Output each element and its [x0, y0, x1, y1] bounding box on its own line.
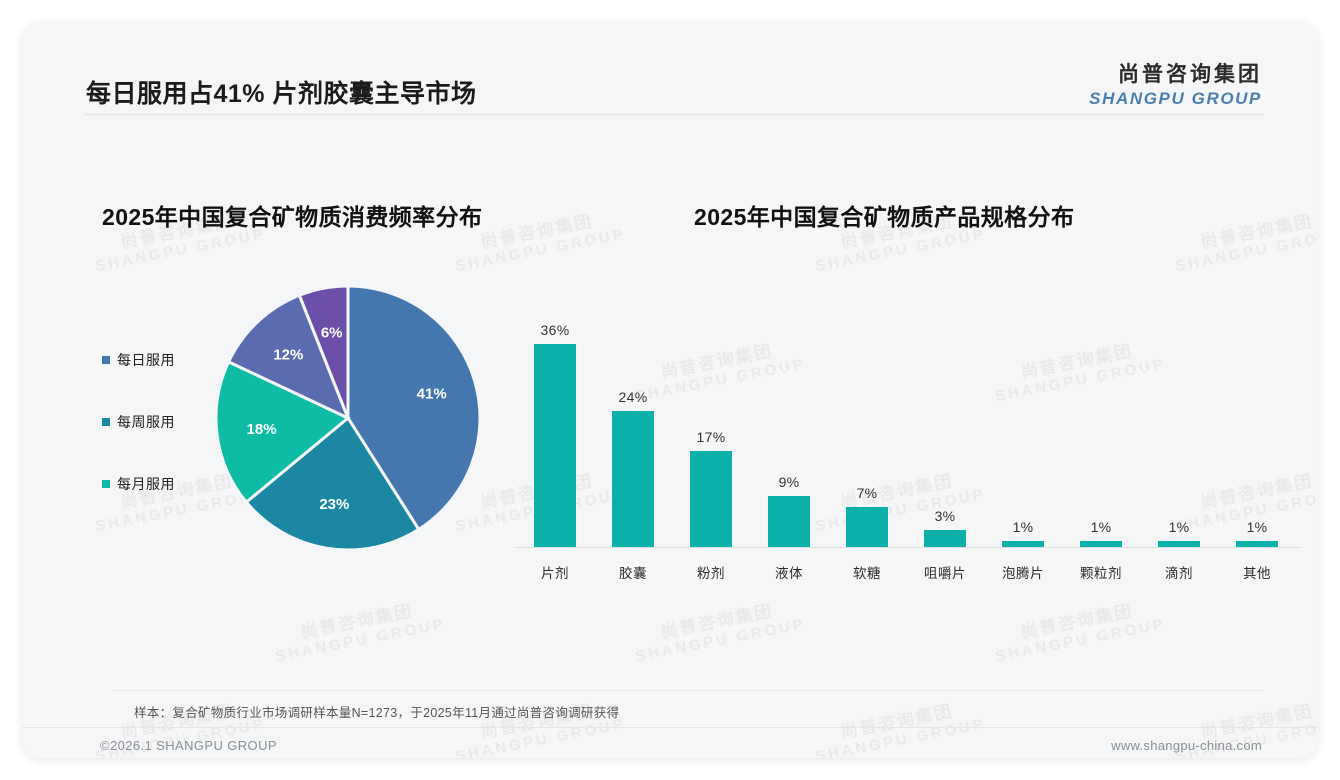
- bar-column[interactable]: 36%: [516, 285, 594, 547]
- logo-chinese-text: 尚普咨询集团: [1089, 62, 1262, 88]
- bar-rect[interactable]: [768, 496, 810, 547]
- bar-column[interactable]: 1%: [1218, 285, 1296, 547]
- slide-header: 每日服用占41% 片剂胶囊主导市场 尚普咨询集团 SHANGPU GROUP: [22, 22, 1318, 114]
- bar-category-label: 咀嚼片: [906, 562, 984, 582]
- left-chart-title: 2025年中国复合矿物质消费频率分布: [102, 198, 482, 232]
- bar-column[interactable]: 1%: [1140, 285, 1218, 547]
- bar-column[interactable]: 24%: [594, 285, 672, 547]
- bar-column[interactable]: 7%: [828, 285, 906, 547]
- bar-rect[interactable]: [690, 451, 732, 547]
- bar-value-label: 1%: [1247, 519, 1268, 535]
- bar-rect[interactable]: [924, 530, 966, 547]
- bar-chart-axis-line: [516, 547, 1300, 548]
- bar-category-label: 粉剂: [672, 562, 750, 582]
- bar-value-label: 36%: [541, 322, 570, 338]
- bar-chart-bars: 36%24%17%9%7%3%1%1%1%1%: [516, 285, 1296, 547]
- bar-category-label: 软糖: [828, 562, 906, 582]
- bar-rect[interactable]: [846, 507, 888, 547]
- watermark-tile: 尚普咨询集团SHANGPU GROUP: [990, 596, 1167, 665]
- legend-swatch-icon: [102, 356, 110, 364]
- bar-value-label: 7%: [857, 485, 878, 501]
- legend-item[interactable]: 每日服用: [102, 350, 175, 370]
- bar-chart-panel: 36%24%17%9%7%3%1%1%1%1% 片剂胶囊粉剂液体软糖咀嚼片泡腾片…: [510, 270, 1300, 600]
- sample-footnote: 样本：复合矿物质行业市场调研样本量N=1273，于2025年11月通过尚普咨询调…: [134, 702, 619, 721]
- footer-copyright: ©2026.1 SHANGPU GROUP: [100, 738, 277, 753]
- pie-slice-label: 23%: [319, 496, 349, 513]
- bar-category-label: 片剂: [516, 562, 594, 582]
- brand-logo: 尚普咨询集团 SHANGPU GROUP: [1089, 62, 1262, 110]
- pie-slice-label: 18%: [247, 421, 277, 438]
- bar-value-label: 1%: [1091, 519, 1112, 535]
- bar-category-label: 液体: [750, 562, 828, 582]
- bar-chart-category-labels: 片剂胶囊粉剂液体软糖咀嚼片泡腾片颗粒剂滴剂其他: [516, 562, 1296, 582]
- bar-column[interactable]: 1%: [1062, 285, 1140, 547]
- footer-website[interactable]: www.shangpu-china.com: [1111, 738, 1262, 753]
- watermark-tile: 尚普咨询集团SHANGPU GROUP: [270, 596, 447, 665]
- legend-swatch-icon: [102, 480, 110, 488]
- bar-rect[interactable]: [534, 344, 576, 547]
- pie-chart: 41%23%18%12%6%: [212, 282, 484, 554]
- slide-canvas: 尚普咨询集团SHANGPU GROUP尚普咨询集团SHANGPU GROUP尚普…: [22, 22, 1318, 758]
- bar-category-label: 颗粒剂: [1062, 562, 1140, 582]
- legend-item[interactable]: 每月服用: [102, 474, 175, 494]
- legend-swatch-icon: [102, 418, 110, 426]
- bar-category-label: 其他: [1218, 562, 1296, 582]
- bar-value-label: 1%: [1169, 519, 1190, 535]
- pie-slice-label: 12%: [273, 346, 303, 363]
- bar-rect[interactable]: [612, 411, 654, 547]
- pie-chart-svg: 41%23%18%12%6%: [212, 282, 484, 554]
- bar-category-label: 滴剂: [1140, 562, 1218, 582]
- legend-item-label: 每周服用: [117, 412, 175, 432]
- footer-divider: [22, 727, 1318, 728]
- pie-slice-label: 6%: [321, 324, 343, 341]
- bar-value-label: 9%: [779, 474, 800, 490]
- bar-value-label: 1%: [1013, 519, 1034, 535]
- legend-item-label: 每月服用: [117, 474, 175, 494]
- page-title: 每日服用占41% 片剂胶囊主导市场: [86, 74, 476, 110]
- bar-category-label: 泡腾片: [984, 562, 1062, 582]
- bar-value-label: 3%: [935, 508, 956, 524]
- bar-column[interactable]: 9%: [750, 285, 828, 547]
- pie-legend: 每日服用每周服用每月服用: [102, 350, 175, 536]
- pie-chart-panel: 每日服用每周服用每月服用 41%23%18%12%6%: [82, 272, 522, 602]
- bar-value-label: 24%: [619, 389, 648, 405]
- watermark-tile: 尚普咨询集团SHANGPU GROUP: [630, 596, 807, 665]
- legend-item-label: 每日服用: [117, 350, 175, 370]
- bar-value-label: 17%: [697, 429, 726, 445]
- legend-item[interactable]: 每周服用: [102, 412, 175, 432]
- bar-category-label: 胶囊: [594, 562, 672, 582]
- pie-slice-label: 41%: [417, 386, 447, 403]
- bar-column[interactable]: 1%: [984, 285, 1062, 547]
- right-chart-title: 2025年中国复合矿物质产品规格分布: [694, 198, 1074, 232]
- bar-column[interactable]: 3%: [906, 285, 984, 547]
- bar-column[interactable]: 17%: [672, 285, 750, 547]
- header-divider: [84, 114, 1264, 115]
- footnote-divider: [112, 690, 1264, 691]
- logo-english-text: SHANGPU GROUP: [1089, 89, 1262, 109]
- watermark-tile: 尚普咨询集团SHANGPU GROUP: [1170, 206, 1318, 275]
